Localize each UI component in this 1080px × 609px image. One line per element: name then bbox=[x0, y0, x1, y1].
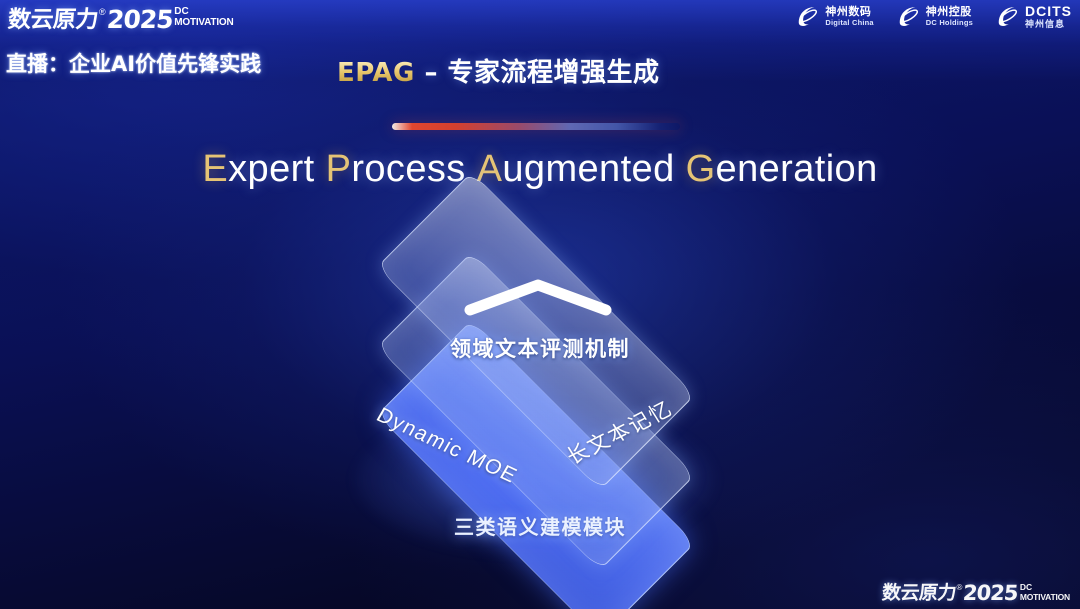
chevron-up-icon bbox=[460, 276, 616, 318]
partner-name-en: DC Holdings bbox=[926, 19, 973, 27]
layer-label-top: 领域文本评测机制 bbox=[0, 333, 1080, 363]
brand-year: 2025 bbox=[105, 6, 173, 34]
footer-brand-motivation-text: MOTIVATION bbox=[1020, 592, 1070, 602]
footer-brand-watermark: 数云原力 ® 2025 DC MOTIVATION bbox=[882, 582, 1070, 605]
brand-registered-mark: ® bbox=[99, 6, 106, 19]
partner-name-cn: 神州信息 bbox=[1025, 20, 1072, 29]
partner-logo-row: 神州数码 Digital China 神州控股 DC Holdings bbox=[795, 4, 1072, 29]
brand-motivation-text: MOTIVATION bbox=[174, 17, 233, 28]
layer-plate-top bbox=[377, 172, 695, 490]
partner-name-en: Digital China bbox=[825, 19, 873, 27]
swoosh-icon bbox=[795, 4, 820, 29]
title-divider-rule bbox=[392, 123, 680, 130]
footer-brand-year: 2025 bbox=[962, 582, 1018, 605]
partner-logo-digital-china: 神州数码 Digital China bbox=[795, 4, 873, 29]
session-title-chinese: 专家流程增强生成 bbox=[448, 58, 660, 88]
page-title: Expert Process Augmented Generation bbox=[0, 148, 1080, 191]
title-cap-e: E bbox=[202, 148, 228, 190]
layer-label-dynamic-moe: Dynamic MOE bbox=[372, 404, 522, 489]
partner-logo-dcits: DCITS 神州信息 bbox=[995, 4, 1072, 29]
stack-ambient-glow bbox=[355, 405, 715, 555]
session-title-acronym: EPAG bbox=[337, 58, 415, 88]
partner-text: 神州数码 Digital China bbox=[825, 6, 873, 27]
session-title: EPAG – 专家流程增强生成 bbox=[337, 52, 660, 89]
brand-dc-text: DC bbox=[174, 7, 233, 17]
layer-label-long-text-memory: 长文本记忆 bbox=[560, 393, 678, 471]
footer-brand-dc-motivation: DC MOTIVATION bbox=[1020, 583, 1070, 602]
title-rest-augmented: ugmented bbox=[502, 148, 674, 190]
session-title-separator: – bbox=[415, 58, 448, 88]
slide-canvas: 数云原力 ® 2025 DC MOTIVATION 直播：企业AI价值先锋实践 … bbox=[0, 0, 1080, 609]
layer-label-bottom: 三类语义建模模块 bbox=[0, 511, 1080, 540]
partner-name-cn: 神州数码 bbox=[825, 6, 873, 17]
title-rest-expert: xpert bbox=[228, 148, 314, 190]
brand-name-cn: 数云原力 bbox=[7, 6, 99, 34]
partner-name-cn: 神州控股 bbox=[926, 6, 973, 17]
brand-dc-motivation: DC MOTIVATION bbox=[174, 7, 233, 28]
partner-logo-dc-holdings: 神州控股 DC Holdings bbox=[896, 4, 973, 29]
layer-plate-middle bbox=[377, 252, 695, 570]
title-rest-generation: eneration bbox=[716, 148, 878, 190]
swoosh-icon bbox=[995, 4, 1020, 29]
title-rest-process: rocess bbox=[351, 148, 465, 190]
partner-text: DCITS 神州信息 bbox=[1025, 4, 1072, 29]
title-cap-a: A bbox=[477, 148, 503, 190]
layer-stack-diagram: 领域文本评测机制 Dynamic MOE 长文本记忆 三类语义建模模块 bbox=[0, 0, 1080, 609]
title-cap-p: P bbox=[326, 148, 352, 190]
partner-text: 神州控股 DC Holdings bbox=[926, 6, 973, 27]
footer-brand-name-cn: 数云原力 bbox=[881, 582, 957, 605]
footer-brand-dc-text: DC bbox=[1020, 583, 1070, 592]
layer-plate-bottom bbox=[377, 320, 695, 609]
live-session-label: 直播：企业AI价值先锋实践 bbox=[6, 48, 261, 78]
swoosh-icon bbox=[896, 4, 921, 29]
header-brand-lockup: 数云原力 ® 2025 DC MOTIVATION bbox=[8, 6, 234, 36]
title-cap-g: G bbox=[686, 148, 716, 190]
partner-name-en: DCITS bbox=[1025, 4, 1072, 18]
footer-brand-registered-mark: ® bbox=[957, 582, 963, 593]
